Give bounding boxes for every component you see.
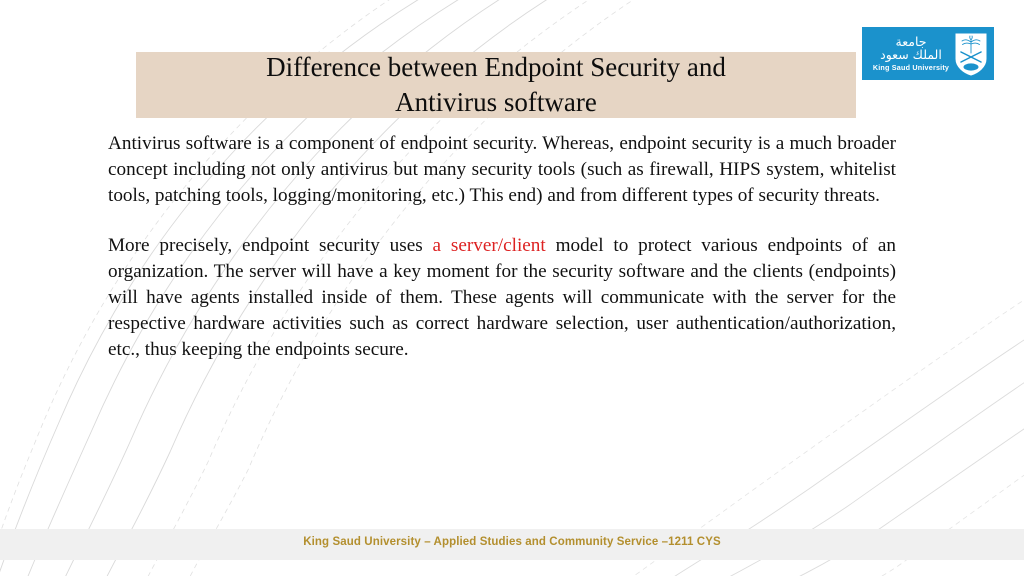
page-title-line-1: Difference between Endpoint Security and <box>266 52 726 82</box>
page-title: Difference between Endpoint Security and… <box>150 52 842 118</box>
body-paragraph-2: More precisely, endpoint security uses a… <box>108 233 896 362</box>
slide-body: Antivirus software is a component of end… <box>108 131 896 362</box>
logo-wordmark: جامعة الملك سعود King Saud University <box>862 36 954 71</box>
palm-tree-and-swords-emblem <box>954 32 988 76</box>
slide-canvas: King Saud University – Applied Studies a… <box>0 0 1024 576</box>
logo-arabic-line-2: الملك سعود <box>868 49 954 62</box>
page-title-line-2: Antivirus software <box>395 87 597 117</box>
king-saud-university-logo: جامعة الملك سعود King Saud University <box>862 27 994 80</box>
paragraph-2-text-before: More precisely, endpoint security uses <box>108 235 433 256</box>
body-paragraph-1: Antivirus software is a component of end… <box>108 131 896 208</box>
footer-text: King Saud University – Applied Studies a… <box>0 536 1024 548</box>
server-client-highlight: a server/client <box>433 235 546 256</box>
logo-english-name: King Saud University <box>868 64 954 71</box>
